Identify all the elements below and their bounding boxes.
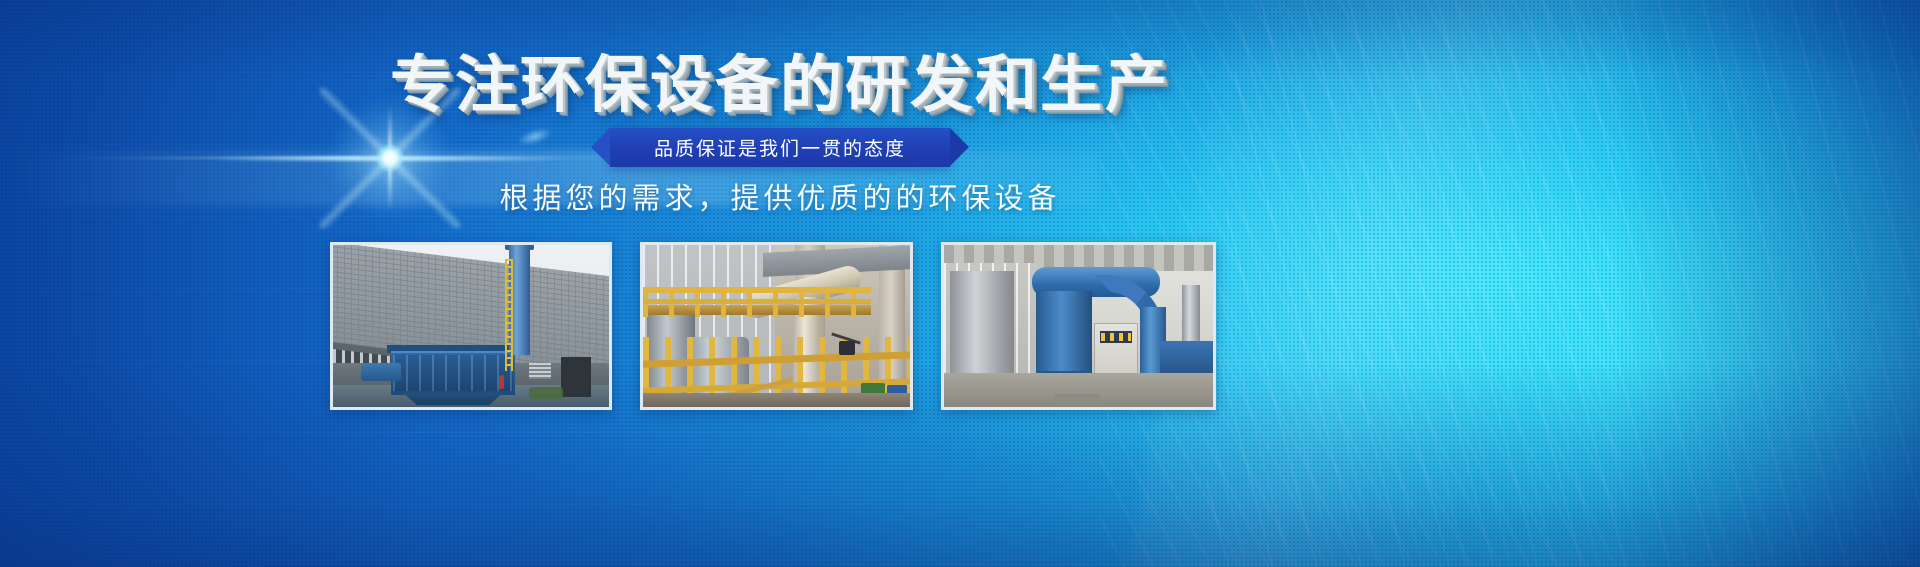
gallery-photo-3[interactable] <box>941 242 1216 410</box>
banner-subline: 根据您的需求，提供优质的的环保设备 <box>0 175 1560 217</box>
floor-debris <box>1054 394 1100 401</box>
hero-banner: 专注环保设备的研发和生产 品质保证是我们一贯的态度 根据您的需求，提供优质的的环… <box>0 0 1920 567</box>
right-pipe <box>1182 285 1200 345</box>
gallery-photo-2[interactable] <box>640 242 913 410</box>
collector-duct <box>361 363 401 381</box>
stack-ladder <box>505 259 513 371</box>
banner-headline: 专注环保设备的研发和生产 <box>0 55 1560 117</box>
photo-3-scene <box>944 245 1213 407</box>
warehouse-door <box>561 357 591 397</box>
collector-ribs <box>393 355 513 391</box>
banner-content: 专注环保设备的研发和生产 品质保证是我们一贯的态度 根据您的需求，提供优质的的环… <box>0 0 1920 567</box>
cabinet-indicator-lights <box>1101 333 1131 341</box>
workshop-floor <box>944 373 1213 407</box>
grass-patch <box>529 387 563 399</box>
railing-mid-bar <box>643 299 871 304</box>
railing-top-bar <box>643 287 871 293</box>
badge-container: 品质保证是我们一贯的态度 <box>0 128 1560 167</box>
silo-tank <box>950 271 1014 379</box>
cyclone-body <box>1036 291 1092 377</box>
collector-hopper <box>403 393 503 405</box>
photo-2-scene <box>643 245 910 407</box>
quality-badge: 品质保证是我们一贯的态度 <box>610 128 950 167</box>
gallery-photo-1[interactable] <box>330 242 612 410</box>
photo-gallery <box>330 242 1216 410</box>
wall-vent <box>529 363 551 379</box>
photo-1-scene <box>333 245 609 407</box>
work-lamp <box>839 341 855 355</box>
worker-figure <box>499 375 504 389</box>
factory-floor <box>643 393 910 407</box>
